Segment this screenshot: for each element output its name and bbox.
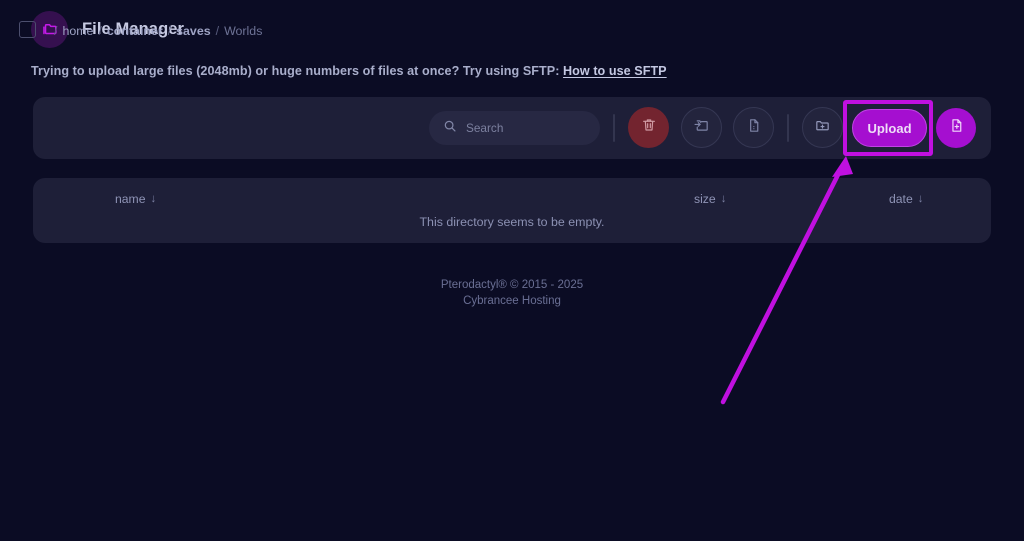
sort-arrow-icon: ↓ [151,193,157,205]
trash-icon [641,117,657,138]
footer: Pterodactyl® © 2015 - 2025 Cybrancee Hos… [0,277,1024,309]
delete-button[interactable] [628,107,669,148]
breadcrumb-separator: / [216,24,219,38]
footer-copyright: Pterodactyl® © 2015 - 2025 [0,277,1024,293]
folder-move-icon [693,117,710,139]
breadcrumb-item-container[interactable]: container [107,24,163,38]
file-list-card [33,178,991,243]
file-plus-icon [948,117,965,139]
search-icon [443,119,457,138]
sftp-notice-text: Trying to upload large files (2048mb) or… [31,64,563,78]
select-all-checkbox[interactable] [19,21,36,38]
sort-arrow-icon: ↓ [721,193,727,205]
annotation-arrow [0,0,1024,541]
breadcrumb-separator: / [168,24,171,38]
copy-button[interactable] [733,107,774,148]
footer-host: Cybrancee Hosting [0,293,1024,309]
search-box[interactable] [429,111,600,145]
breadcrumb-item-home[interactable]: home [62,24,93,38]
column-header-date-label: date [889,192,913,206]
file-manager-page: File Manager Trying to upload large file… [0,0,1024,541]
folder-plus-icon [814,117,831,139]
column-header-size[interactable]: size ↓ [694,192,726,206]
breadcrumb-item-worlds: Worlds [224,24,262,38]
new-folder-button[interactable] [802,107,843,148]
breadcrumb-separator: / [98,24,101,38]
file-copy-icon [745,117,762,139]
sftp-notice: Trying to upload large files (2048mb) or… [31,64,667,78]
toolbar-divider [613,114,615,142]
move-button[interactable] [681,107,722,148]
breadcrumb: / home / container / saves / Worlds [49,0,262,62]
breadcrumb-item-saves[interactable]: saves [176,24,210,38]
new-file-button[interactable] [936,108,976,148]
column-header-name-label: name [115,192,146,206]
column-header-size-label: size [694,192,716,206]
search-input[interactable] [466,121,586,135]
sftp-help-link[interactable]: How to use SFTP [563,64,667,78]
column-header-name[interactable]: name ↓ [115,192,156,206]
toolbar-divider [787,114,789,142]
empty-directory-message: This directory seems to be empty. [0,215,1024,229]
column-header-date[interactable]: date ↓ [889,192,923,206]
sort-arrow-icon: ↓ [918,193,924,205]
upload-button[interactable]: Upload [852,109,927,147]
breadcrumb-separator: / [54,24,57,38]
